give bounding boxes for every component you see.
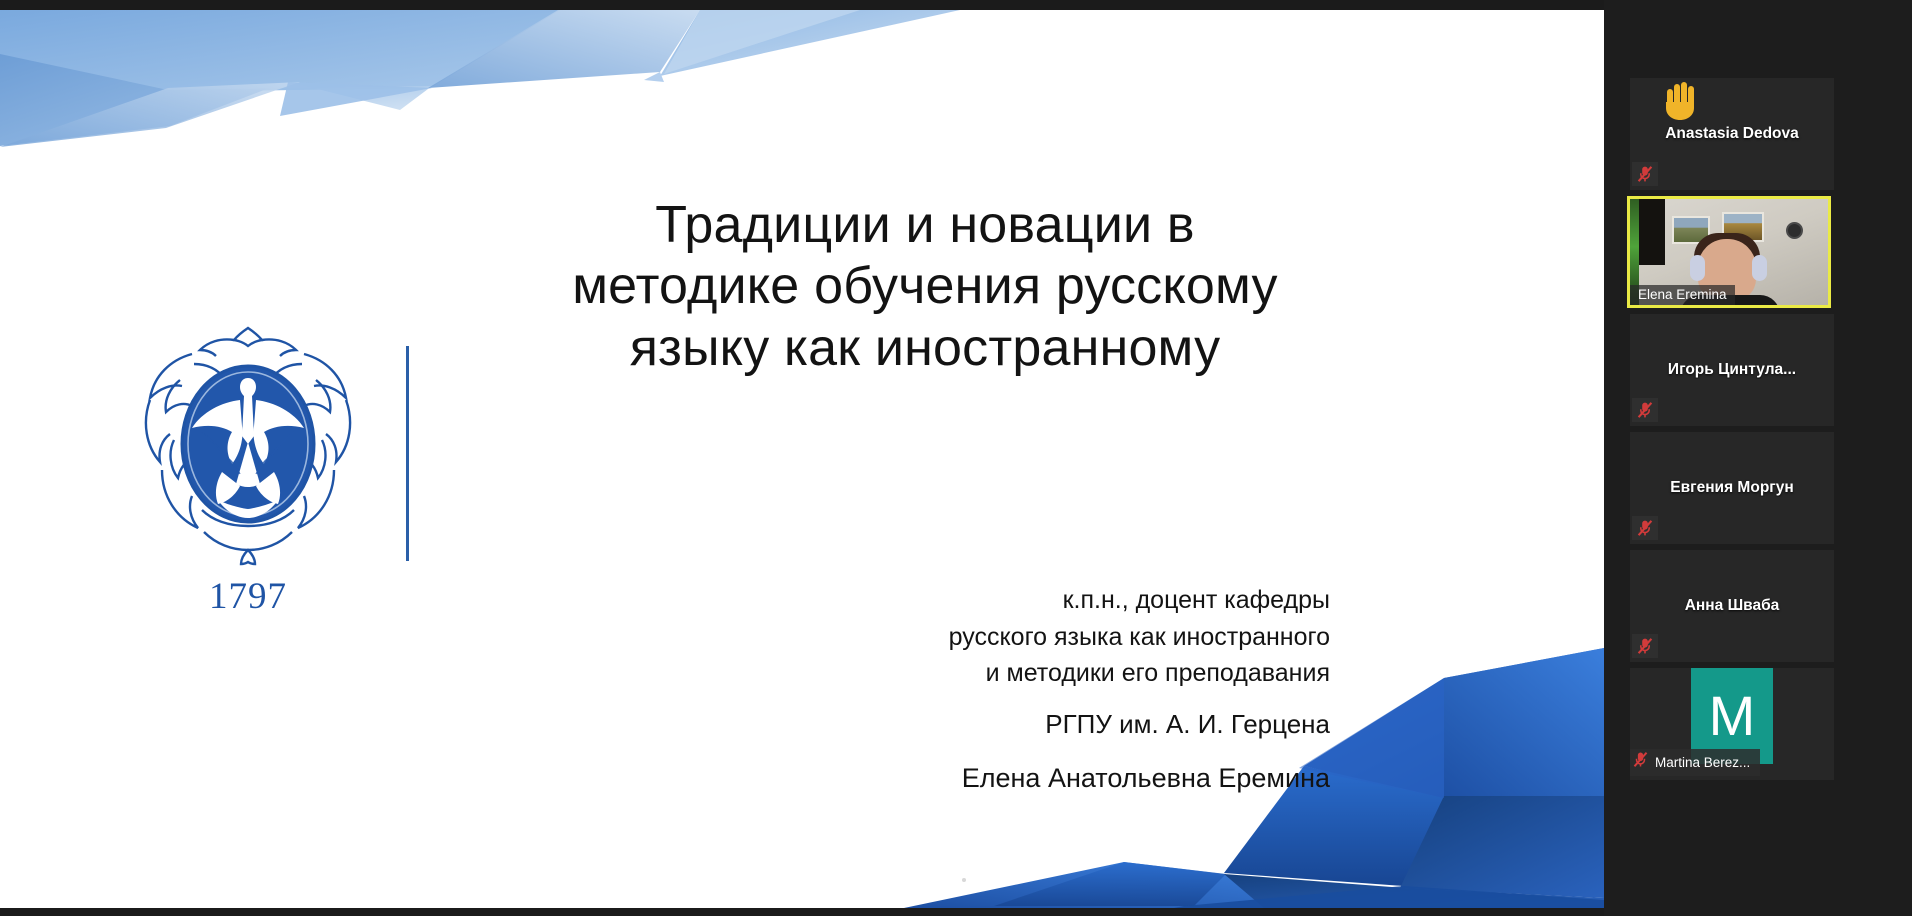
subtitle-line-2: русского языка как иностранного [700,619,1330,656]
wall-clock-icon [1786,222,1803,239]
shared-screen-slide[interactable]: 1797 Традиции и новации в методике обуче… [0,10,1604,908]
slide-title: Традиции и новации в методике обучения р… [560,195,1290,379]
participant-tile-igor-tsintula[interactable]: Игорь Цинтула... [1630,314,1834,426]
participant-name-chip: Martina Berez... [1630,749,1760,776]
slide-stray-dot [962,878,966,882]
participant-name: Martina Berez... [1655,755,1750,770]
participant-tile-elena-eremina[interactable]: Elena Eremina [1627,196,1831,308]
participant-tile-anastasia-dedova[interactable]: Anastasia Dedova [1630,78,1834,190]
participant-name: Игорь Цинтула... [1630,361,1834,379]
emblem-year: 1797 [118,575,378,618]
mic-muted-icon [1632,751,1649,773]
participant-name: Elena Eremina [1630,285,1735,305]
participant-tile-martina-berez[interactable]: M Martina Berez... [1630,668,1834,780]
slide-author: Елена Анатольевна Еремина [700,759,1330,798]
slide-institution: РГПУ им. А. И. Герцена [700,706,1330,744]
slide-decoration-top-left [0,10,1000,190]
participant-name: Евгения Моргун [1630,479,1834,497]
mic-muted-icon [1632,162,1658,186]
subtitle-line-3: и методики его преподавания [700,655,1330,692]
mic-muted-icon [1632,634,1658,658]
mic-muted-icon [1632,516,1658,540]
participant-name: Анна Шваба [1630,597,1834,615]
participant-name: Anastasia Dedova [1630,125,1834,143]
mic-muted-icon [1632,398,1658,422]
slide-subtitle-block: к.п.н., доцент кафедры русского языка ка… [700,582,1330,799]
participant-filmstrip[interactable]: Anastasia Dedova [1604,0,1912,916]
university-emblem: 1797 [118,320,418,650]
emblem-divider [406,346,409,561]
pelican-crest-icon [118,320,378,575]
meeting-window: 1797 Традиции и новации в методике обуче… [0,0,1912,916]
raised-hand-icon [1664,80,1700,126]
participant-tile-evgeniya-morgun[interactable]: Евгения Моргун [1630,432,1834,544]
headphone-icon [1752,255,1767,281]
participant-tile-anna-shvaba[interactable]: Анна Шваба [1630,550,1834,662]
headphone-icon [1690,255,1705,281]
subtitle-line-1: к.п.н., доцент кафедры [700,582,1330,619]
